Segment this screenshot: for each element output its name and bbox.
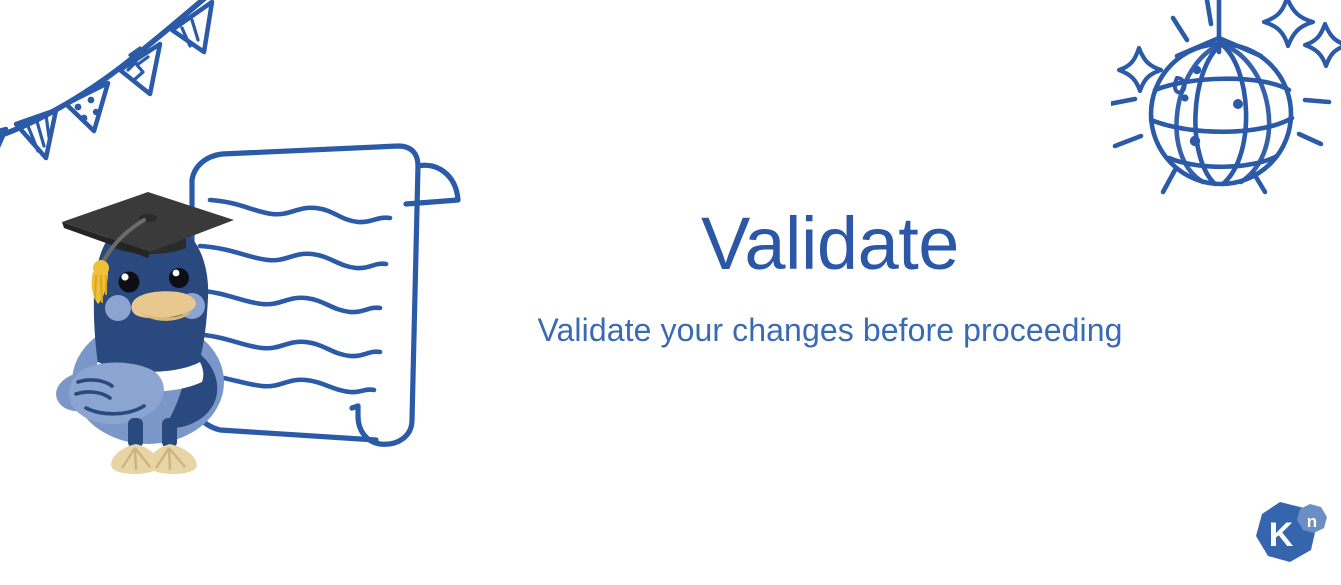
bird-mascot-graduate [52, 186, 242, 476]
scroll-certificate-decoration [180, 138, 465, 453]
page-subtitle: Validate your changes before proceeding [460, 311, 1200, 349]
bunting-garland-decoration [0, 0, 240, 188]
logo-badge-letter-n: n [1307, 512, 1317, 531]
disco-ball-decoration [1111, 0, 1341, 221]
brand-logo[interactable]: K n [1248, 498, 1330, 572]
headline-block: Validate Validate your changes before pr… [460, 205, 1200, 350]
page-title: Validate [460, 205, 1200, 283]
logo-letter-k: K [1269, 516, 1294, 554]
validate-splash-screen: Validate Validate your changes before pr… [0, 0, 1341, 585]
